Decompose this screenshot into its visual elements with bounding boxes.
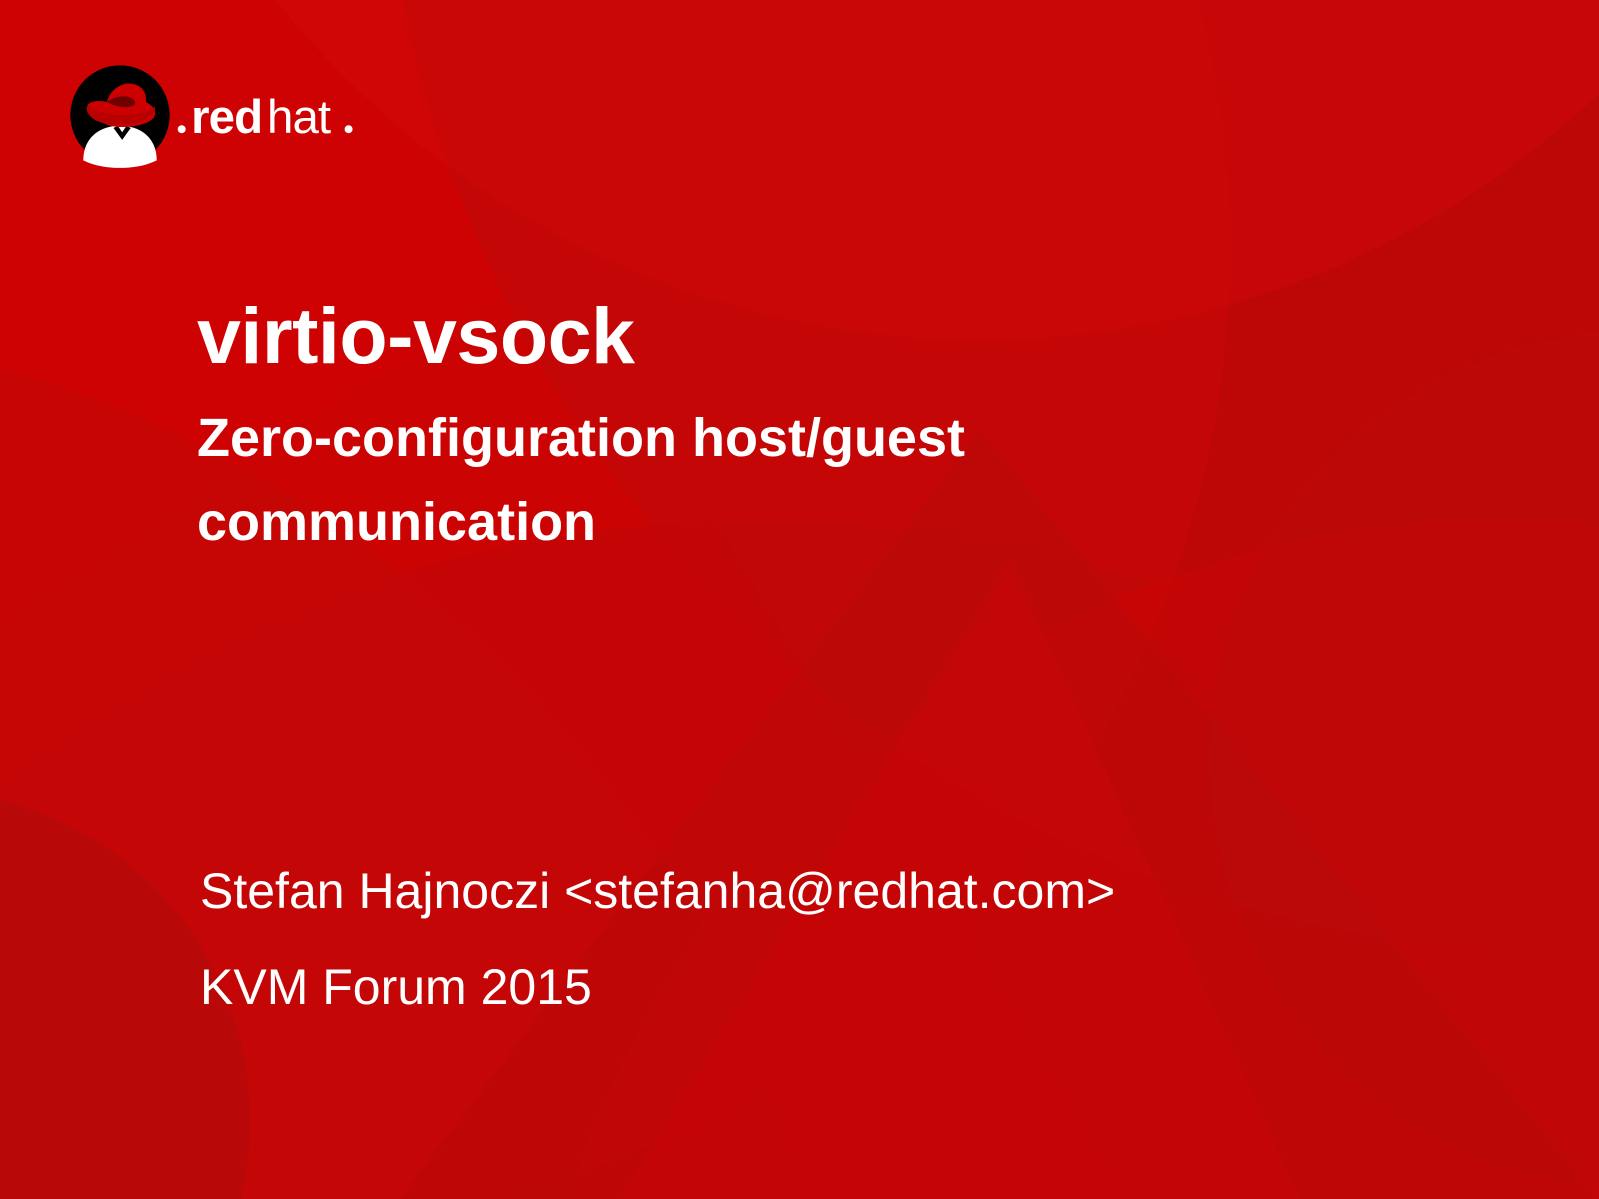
slide-title: virtio-vsock [197,296,1397,375]
event-line: KVM Forum 2015 [200,962,1400,1012]
author-line: Stefan Hajnoczi <stefanha@redhat.com> [200,866,1400,916]
svg-text:red: red [191,91,262,144]
red-hat-wordmark: red hat [176,84,396,146]
background-pattern [0,0,1599,1199]
svg-text:hat: hat [267,91,331,144]
red-hat-shadowman-icon [66,61,174,169]
red-hat-logo: red hat [66,62,396,167]
title-block: virtio-vsock Zero-configuration host/gue… [197,296,1397,564]
slide-subtitle: Zero-configuration host/guest communicat… [197,397,1257,564]
byline-block: Stefan Hajnoczi <stefanha@redhat.com> KV… [200,866,1400,1012]
title-slide: red hat virtio-vsock Zero-configuration … [0,0,1599,1199]
